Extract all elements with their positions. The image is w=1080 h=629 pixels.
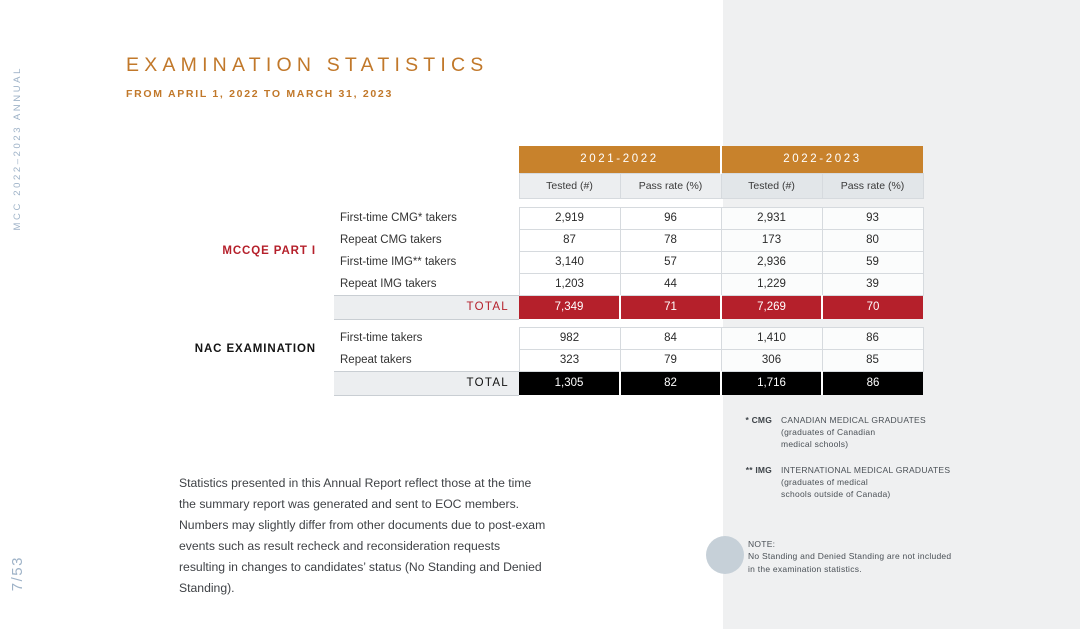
col-header-tested-2022: Tested (#) bbox=[721, 173, 822, 198]
row-label: First-time CMG* takers bbox=[334, 207, 519, 229]
cell-value: 306 bbox=[721, 349, 822, 371]
cell-value: 57 bbox=[620, 251, 721, 273]
footnote-title: INTERNATIONAL MEDICAL GRADUATES bbox=[781, 464, 950, 476]
cell-value: 1,410 bbox=[721, 327, 822, 349]
footnote-detail-line: schools outside of Canada) bbox=[781, 488, 950, 500]
cell-value: 173 bbox=[721, 229, 822, 251]
body-paragraph: Statistics presented in this Annual Repo… bbox=[179, 473, 547, 599]
note-line: No Standing and Denied Standing are not … bbox=[748, 550, 1008, 562]
note-line: in the examination statistics. bbox=[748, 563, 1008, 575]
cell-value: 84 bbox=[620, 327, 721, 349]
total-value: 1,305 bbox=[519, 371, 620, 395]
footnote-key: ** IMG bbox=[733, 464, 781, 500]
cell-value: 2,931 bbox=[721, 207, 822, 229]
footnote-cmg: * CMG CANADIAN MEDICAL GRADUATES (gradua… bbox=[733, 414, 1023, 450]
total-row-nac: TOTAL 1,305 82 1,716 86 bbox=[186, 371, 923, 395]
row-label: First-time takers bbox=[334, 327, 519, 349]
cell-value: 1,203 bbox=[519, 273, 620, 295]
annual-report-page: MCC 2022–2023 ANNUAL 7/53 EXAMINATION ST… bbox=[0, 0, 1080, 629]
year-group-header-row: 2021-2022 2022-2023 bbox=[186, 146, 923, 173]
table-row: MCCQE PART I First-time CMG* takers 2,91… bbox=[186, 207, 923, 229]
section-label-nac: NAC EXAMINATION bbox=[186, 327, 334, 371]
cell-value: 44 bbox=[620, 273, 721, 295]
section-gap-row bbox=[186, 319, 923, 327]
row-label: Repeat takers bbox=[334, 349, 519, 371]
cell-value: 39 bbox=[822, 273, 923, 295]
footnote-img: ** IMG INTERNATIONAL MEDICAL GRADUATES (… bbox=[733, 464, 1023, 500]
page-subtitle: FROM APRIL 1, 2022 TO MARCH 31, 2023 bbox=[126, 88, 393, 100]
cell-value: 982 bbox=[519, 327, 620, 349]
cell-value: 79 bbox=[620, 349, 721, 371]
total-label: TOTAL bbox=[334, 295, 519, 319]
footnote-body: INTERNATIONAL MEDICAL GRADUATES (graduat… bbox=[781, 464, 950, 500]
page-title: EXAMINATION STATISTICS bbox=[126, 54, 489, 77]
total-value: 7,269 bbox=[721, 295, 822, 319]
footnote-detail-line: (graduates of Canadian bbox=[781, 426, 926, 438]
column-header-row: Tested (#) Pass rate (%) Tested (#) Pass… bbox=[186, 173, 923, 198]
publication-text: MCC 2022–2023 ANNUAL bbox=[12, 66, 23, 230]
cell-value: 78 bbox=[620, 229, 721, 251]
row-label: Repeat IMG takers bbox=[334, 273, 519, 295]
note-label: NOTE: bbox=[748, 538, 1008, 550]
col-header-tested-2021: Tested (#) bbox=[519, 173, 620, 198]
footnote-title: CANADIAN MEDICAL GRADUATES bbox=[781, 414, 926, 426]
cell-value: 323 bbox=[519, 349, 620, 371]
footnotes: * CMG CANADIAN MEDICAL GRADUATES (gradua… bbox=[733, 414, 1023, 514]
note-circle-decoration bbox=[706, 536, 744, 574]
cell-value: 93 bbox=[822, 207, 923, 229]
cell-value: 80 bbox=[822, 229, 923, 251]
cell-value: 3,140 bbox=[519, 251, 620, 273]
total-value: 86 bbox=[822, 371, 923, 395]
page-number-label: 7/53 bbox=[0, 556, 34, 626]
cell-value: 59 bbox=[822, 251, 923, 273]
footnote-detail-line: (graduates of medical bbox=[781, 476, 950, 488]
row-label: First-time IMG** takers bbox=[334, 251, 519, 273]
year-group-2021-2022: 2021-2022 bbox=[519, 146, 721, 173]
note-block: NOTE: No Standing and Denied Standing ar… bbox=[748, 538, 1008, 575]
header-gap-row bbox=[186, 198, 923, 207]
footnote-key: * CMG bbox=[733, 414, 781, 450]
cell-value: 96 bbox=[620, 207, 721, 229]
cell-value: 87 bbox=[519, 229, 620, 251]
total-value: 7,349 bbox=[519, 295, 620, 319]
col-header-passrate-2022: Pass rate (%) bbox=[822, 173, 923, 198]
vertical-publication-label: MCC 2022–2023 ANNUAL bbox=[0, 0, 34, 230]
section-label-mccqe: MCCQE PART I bbox=[186, 207, 334, 295]
total-value: 71 bbox=[620, 295, 721, 319]
table-row: NAC EXAMINATION First-time takers 982 84… bbox=[186, 327, 923, 349]
row-label: Repeat CMG takers bbox=[334, 229, 519, 251]
total-label: TOTAL bbox=[334, 371, 519, 395]
year-group-2022-2023: 2022-2023 bbox=[721, 146, 923, 173]
total-value: 1,716 bbox=[721, 371, 822, 395]
cell-value: 2,919 bbox=[519, 207, 620, 229]
total-value: 70 bbox=[822, 295, 923, 319]
cell-value: 85 bbox=[822, 349, 923, 371]
cell-value: 2,936 bbox=[721, 251, 822, 273]
cell-value: 86 bbox=[822, 327, 923, 349]
total-row-mccqe: TOTAL 7,349 71 7,269 70 bbox=[186, 295, 923, 319]
footnote-detail-line: medical schools) bbox=[781, 438, 926, 450]
footnote-body: CANADIAN MEDICAL GRADUATES (graduates of… bbox=[781, 414, 926, 450]
examination-statistics-table: 2021-2022 2022-2023 Tested (#) Pass rate… bbox=[186, 146, 923, 396]
col-header-passrate-2021: Pass rate (%) bbox=[620, 173, 721, 198]
total-value: 82 bbox=[620, 371, 721, 395]
cell-value: 1,229 bbox=[721, 273, 822, 295]
page-number-text: 7/53 bbox=[9, 556, 26, 591]
